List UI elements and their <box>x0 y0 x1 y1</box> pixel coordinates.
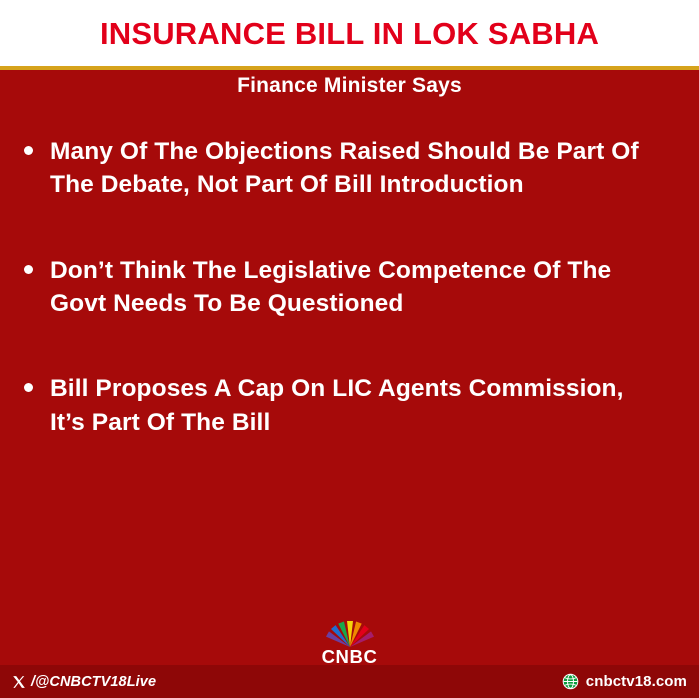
news-graphic-card: INSURANCE BILL IN LOK SABHA Finance Mini… <box>0 0 699 698</box>
footer-bar: /@CNBCTV18Live cnbctv18.com <box>0 665 699 698</box>
bullet-dot-icon <box>24 383 33 392</box>
list-item: Many Of The Objections Raised Should Be … <box>24 135 674 202</box>
list-item: Don’t Think The Legislative Competence O… <box>24 254 674 321</box>
list-item-text: Bill Proposes A Cap On LIC Agents Commis… <box>50 372 650 439</box>
social-handle[interactable]: /@CNBCTV18Live <box>12 674 156 690</box>
website-link[interactable]: cnbctv18.com <box>562 673 687 690</box>
list-item-text: Many Of The Objections Raised Should Be … <box>50 135 650 202</box>
headline-banner: INSURANCE BILL IN LOK SABHA <box>0 0 699 68</box>
peacock-logo-icon <box>322 617 378 647</box>
globe-icon <box>562 673 579 690</box>
website-text: cnbctv18.com <box>586 673 687 690</box>
list-item: Bill Proposes A Cap On LIC Agents Commis… <box>24 372 674 439</box>
bullet-dot-icon <box>24 146 33 155</box>
page-title: INSURANCE BILL IN LOK SABHA <box>100 16 599 52</box>
social-handle-text: /@CNBCTV18Live <box>31 674 156 690</box>
logo-line-1: CNBC <box>322 646 378 667</box>
headline-container: INSURANCE BILL IN LOK SABHA <box>0 10 699 58</box>
bullet-dot-icon <box>24 265 33 274</box>
list-item-text: Don’t Think The Legislative Competence O… <box>50 254 650 321</box>
bullet-list: Many Of The Objections Raised Should Be … <box>24 135 674 491</box>
x-twitter-icon <box>12 675 26 689</box>
subtitle: Finance Minister Says <box>0 70 699 98</box>
